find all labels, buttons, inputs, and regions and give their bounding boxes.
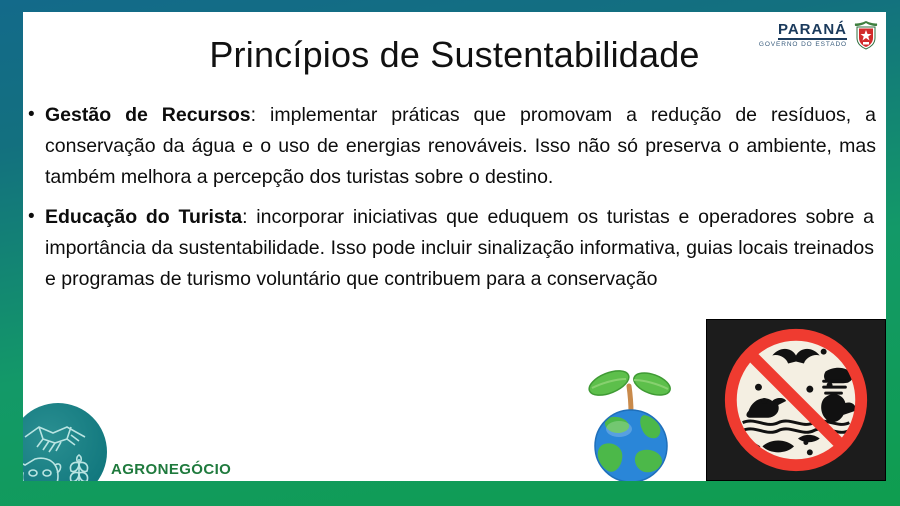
agronegocio-icons: [23, 403, 107, 481]
slide: PARANÁ GOVERNO DO ESTADO Princípios de S…: [0, 0, 900, 506]
bullet-lead: Gestão de Recursos: [45, 104, 251, 126]
handshake-icon: [25, 427, 85, 452]
agronegocio-circle: [23, 403, 107, 481]
slide-title: Princípios de Sustentabilidade: [23, 34, 886, 76]
cow-head-icon: [23, 458, 61, 481]
bullet-separator: :: [242, 206, 256, 228]
no-feeding-wildlife-sign-image: [706, 319, 886, 481]
earth-sprout-graphic: [572, 353, 690, 481]
bullet-separator: :: [251, 104, 270, 126]
list-item: • Gestão de Recursos: implementar prátic…: [28, 100, 876, 192]
list-item: • Educação do Turista: incorporar inicia…: [28, 202, 876, 294]
bullet-text: Gestão de Recursos: implementar práticas…: [45, 100, 876, 192]
bullet-lead: Educação do Turista: [45, 206, 242, 228]
agronegocio-label: AGRONEGÓCIO: [111, 461, 231, 478]
agronegocio-logo: AGRONEGÓCIO: [23, 403, 231, 481]
wheat-icon: [70, 455, 87, 481]
no-feeding-wildlife-graphic: [707, 320, 885, 480]
bullet-marker: •: [28, 202, 45, 232]
bullet-text: Educação do Turista: incorporar iniciati…: [45, 202, 876, 294]
slide-canvas: PARANÁ GOVERNO DO ESTADO Princípios de S…: [23, 12, 886, 481]
bullet-list: • Gestão de Recursos: implementar prátic…: [28, 100, 876, 301]
earth-with-sprout-image: [572, 353, 690, 481]
bullet-marker: •: [28, 100, 45, 130]
